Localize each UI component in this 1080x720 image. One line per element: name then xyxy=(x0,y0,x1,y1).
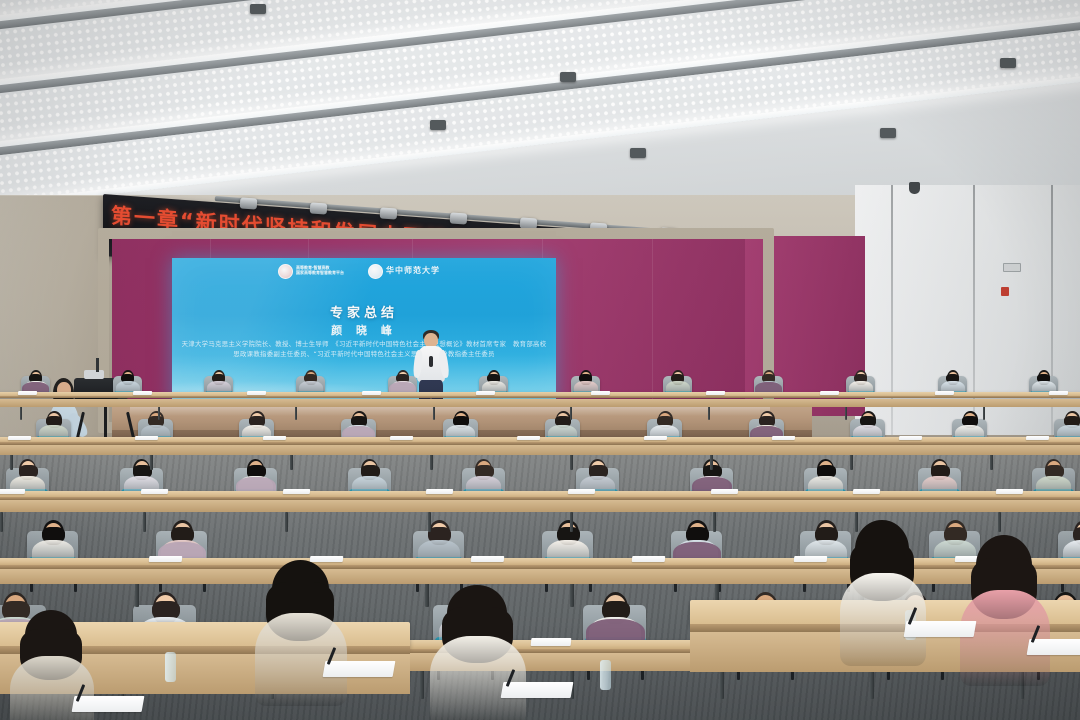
desk-modesty-panel xyxy=(0,569,1080,584)
notebook-paper xyxy=(632,556,666,562)
notebook-paper xyxy=(771,436,794,440)
desk-leg xyxy=(570,454,573,470)
wall-switch[interactable] xyxy=(1003,263,1021,272)
notebook-paper xyxy=(1026,436,1049,440)
notebook-paper xyxy=(476,391,495,395)
track-spotlight xyxy=(380,207,398,219)
notebook-paper xyxy=(310,556,344,562)
track-spotlight xyxy=(310,202,328,214)
water-bottle xyxy=(600,660,611,690)
desk-front-edge xyxy=(0,396,1080,398)
notebook-paper xyxy=(140,489,168,494)
foreground-paper xyxy=(323,661,396,677)
notebook-paper xyxy=(283,489,311,494)
foreground-torso xyxy=(840,573,926,665)
foreground-torso xyxy=(960,590,1050,686)
water-bottle xyxy=(165,652,176,682)
desk-leg xyxy=(135,583,139,607)
desk-leg xyxy=(295,406,297,420)
notebook-paper xyxy=(710,489,738,494)
desk-leg xyxy=(990,454,993,470)
desk-leg xyxy=(20,406,22,420)
foreground-paper xyxy=(903,621,976,637)
notebook-paper xyxy=(793,556,827,562)
desk-leg xyxy=(713,512,716,532)
desk-leg xyxy=(10,454,13,470)
desk-leg xyxy=(870,670,874,699)
notebook-paper xyxy=(471,556,505,562)
desk-leg xyxy=(720,670,724,699)
ceiling-fixture xyxy=(630,148,646,158)
desk-leg xyxy=(570,583,574,607)
desk-leg xyxy=(158,406,160,420)
desk-leg xyxy=(708,406,710,420)
desk-leg xyxy=(150,454,153,470)
desk-leg xyxy=(420,670,424,699)
notebook-paper xyxy=(820,391,839,395)
notebook-paper xyxy=(591,391,610,395)
ceiling-fixture xyxy=(560,72,576,82)
fire-alarm-icon xyxy=(1001,287,1009,296)
foreground-paper xyxy=(72,696,145,712)
foreground-paper xyxy=(501,682,574,698)
ceiling-fixture xyxy=(1000,58,1016,68)
notebook-paper xyxy=(644,436,667,440)
notebook-paper xyxy=(247,391,266,395)
notebook-paper xyxy=(8,436,31,440)
desk-modesty-panel xyxy=(0,500,1080,512)
notebook-paper xyxy=(18,391,37,395)
desk-leg xyxy=(845,406,847,420)
notebook-paper xyxy=(705,391,724,395)
track-spotlight xyxy=(450,212,468,224)
desk-leg xyxy=(570,406,572,420)
ceiling-fixture xyxy=(430,120,446,130)
desk-leg xyxy=(710,454,713,470)
desk-leg xyxy=(983,406,985,420)
notebook-paper xyxy=(568,489,596,494)
desk-leg xyxy=(285,512,288,532)
notebook-paper xyxy=(934,391,953,395)
desk-leg xyxy=(430,454,433,470)
notebook-paper xyxy=(390,436,413,440)
desk-leg xyxy=(425,583,429,607)
foreground-torso xyxy=(255,613,347,705)
notebook-paper xyxy=(530,638,571,646)
notebook-paper xyxy=(132,391,151,395)
desk-modesty-panel xyxy=(0,445,1080,455)
desk-leg xyxy=(143,512,146,532)
ceiling-fixture xyxy=(880,128,896,138)
ceiling-camera-icon xyxy=(909,182,920,194)
desk-modesty-panel xyxy=(0,399,1080,407)
desk-leg xyxy=(433,406,435,420)
desk-leg xyxy=(0,512,3,532)
desk-leg xyxy=(855,512,858,532)
track-spotlight xyxy=(240,197,258,209)
notebook-paper xyxy=(995,489,1023,494)
lecture-hall-photograph: 第一章“新时代坚持和发展中国特色社会主义”教学反思与提高集体备课会 高等教育·智… xyxy=(0,0,1080,720)
notebook-paper xyxy=(0,489,25,494)
notebook-paper xyxy=(1049,391,1068,395)
notebook-paper xyxy=(362,391,381,395)
audience-area xyxy=(0,360,1080,720)
notebook-paper xyxy=(149,556,183,562)
notebook-paper xyxy=(425,489,453,494)
foreground-paper xyxy=(1026,639,1080,655)
ceiling-fixture xyxy=(250,4,266,14)
desk-leg xyxy=(570,512,573,532)
notebook-paper xyxy=(135,436,158,440)
desk-leg xyxy=(428,512,431,532)
desk-leg xyxy=(850,454,853,470)
desk-leg xyxy=(998,512,1001,532)
notebook-paper xyxy=(517,436,540,440)
notebook-paper xyxy=(262,436,285,440)
notebook-paper xyxy=(899,436,922,440)
notebook-paper xyxy=(853,489,881,494)
desk-leg xyxy=(290,454,293,470)
